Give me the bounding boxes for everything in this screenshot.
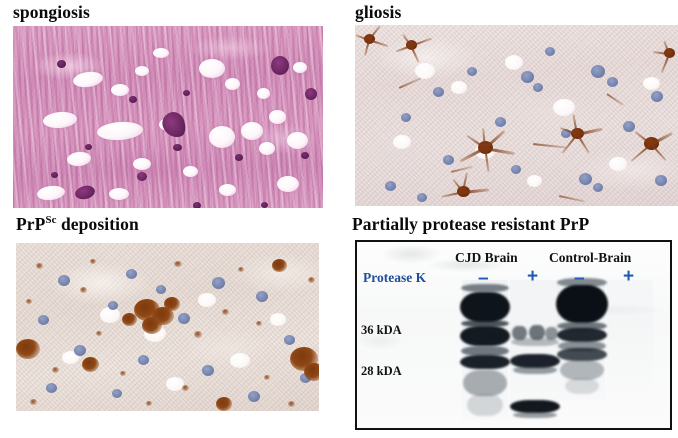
blot-band — [460, 292, 510, 322]
vacuole — [257, 88, 270, 99]
tissue-hole — [643, 77, 660, 90]
prp-plaque — [164, 297, 180, 311]
vacuole — [287, 132, 308, 149]
nucleus — [51, 172, 58, 178]
prpsc-title-main: PrP — [16, 214, 45, 234]
blot-band — [463, 370, 507, 396]
vacuole — [269, 110, 286, 124]
nucleus — [108, 301, 118, 310]
nucleus — [193, 202, 201, 208]
blot-band — [557, 328, 607, 342]
neuron — [271, 56, 289, 75]
vacuole — [199, 59, 225, 78]
vacuole — [153, 48, 169, 58]
prp-granule — [256, 321, 262, 326]
nucleus — [533, 83, 543, 92]
neuron — [137, 172, 147, 181]
nucleus — [126, 269, 137, 279]
lane-group-label-cjd: CJD Brain — [455, 250, 518, 266]
panel-title-blot: Partially protease resistant PrP — [352, 214, 589, 235]
prpsc-title-superscript: Sc — [45, 214, 56, 226]
lane-sign-cjd-plus: + — [527, 266, 538, 288]
lane-sign-cjd-minus: – — [478, 268, 489, 290]
vacuole — [135, 66, 149, 76]
vacuole — [109, 188, 129, 200]
nucleus — [138, 355, 149, 365]
prp-plaque — [16, 339, 40, 359]
nucleus — [38, 315, 49, 325]
vacuole — [277, 176, 299, 192]
prp-plaque — [82, 357, 99, 372]
nucleus — [284, 335, 295, 345]
prp-granule — [264, 375, 270, 380]
nucleus — [623, 121, 635, 132]
blot-band — [513, 366, 557, 374]
lane-group-label-control: Control-Brain — [549, 250, 631, 266]
prp-granule — [222, 309, 229, 315]
mw-marker-28kda: 28 kDA — [361, 364, 402, 379]
vacuole — [259, 142, 275, 155]
tissue-hole — [505, 55, 523, 70]
lane-background-cjd-plus — [510, 280, 558, 420]
nucleus — [301, 152, 309, 159]
nucleus — [433, 87, 444, 97]
prp-granule — [36, 263, 43, 269]
blot-band — [560, 360, 604, 380]
nucleus — [173, 144, 182, 151]
nucleus — [212, 277, 225, 289]
micrograph-spongiosis — [13, 26, 323, 208]
vacuole — [241, 122, 263, 140]
lane-sign-control-plus: + — [623, 266, 634, 288]
nucleus — [202, 365, 214, 376]
vacuole — [133, 158, 151, 170]
prp-plaque — [142, 317, 162, 334]
mw-marker-36kda: 36 kDA — [361, 323, 402, 338]
nucleus — [593, 183, 603, 192]
panel-title-prpsc: PrPSc deposition — [16, 214, 139, 235]
nucleus — [545, 47, 555, 56]
blot-band — [511, 338, 559, 346]
nucleus — [401, 113, 411, 122]
vacuole — [209, 126, 235, 148]
blot-band — [565, 378, 599, 394]
prp-granule — [96, 331, 102, 336]
vacuole — [183, 166, 198, 177]
prp-plaque — [272, 259, 287, 272]
prp-granule — [52, 367, 59, 373]
nucleus — [495, 117, 506, 127]
lane-background-control-plus — [607, 280, 653, 390]
nucleus — [178, 313, 190, 324]
nucleus — [579, 173, 592, 185]
blot-band — [556, 285, 608, 323]
nucleus — [74, 345, 86, 356]
prp-granule — [288, 401, 295, 407]
tissue-hole — [270, 313, 286, 326]
prp-plaque — [122, 313, 137, 326]
lane-sign-control-minus: – — [574, 268, 585, 290]
nucleus — [655, 175, 667, 186]
prp-granule — [90, 259, 96, 264]
blot-band — [460, 355, 510, 369]
prpsc-title-rest: deposition — [57, 214, 139, 234]
nucleus — [235, 154, 243, 161]
prp-granule — [308, 277, 315, 283]
prp-granule — [238, 267, 244, 272]
nucleus — [261, 202, 268, 208]
nucleus — [85, 144, 92, 150]
prp-granule — [30, 399, 37, 405]
tissue-hole — [451, 81, 467, 94]
nucleus — [607, 77, 618, 87]
blot-band — [467, 394, 503, 416]
tissue-hole — [393, 135, 411, 149]
prp-granule — [120, 371, 126, 376]
tissue-hole — [198, 293, 216, 307]
protease-k-label: Protease K — [363, 270, 426, 286]
vacuole — [293, 62, 307, 73]
nucleus — [57, 60, 66, 68]
panel-title-spongiosis: spongiosis — [13, 2, 90, 23]
figure-root: spongiosis gliosis PrPSc deposition Part… — [0, 0, 678, 438]
nucleus — [248, 391, 260, 402]
vacuole — [219, 184, 236, 196]
prp-granule — [194, 331, 202, 338]
nucleus — [511, 165, 521, 174]
micrograph-gliosis — [355, 25, 678, 206]
tissue-hole — [230, 353, 250, 368]
nucleus — [651, 91, 663, 102]
tissue-hole — [415, 63, 435, 79]
nucleus — [256, 291, 268, 302]
prp-granule — [174, 261, 182, 267]
micrograph-prpsc — [16, 243, 319, 411]
nucleus — [443, 155, 454, 165]
blot-band — [460, 326, 510, 346]
nucleus — [521, 71, 534, 83]
prp-granule — [146, 401, 152, 406]
nucleus — [183, 90, 190, 96]
nucleus — [385, 181, 396, 191]
prp-plaque — [216, 397, 232, 411]
nucleus — [129, 96, 137, 103]
nucleus — [156, 285, 166, 294]
vacuole — [225, 78, 240, 90]
prp-plaque — [304, 363, 319, 381]
nucleus — [46, 383, 57, 393]
nucleus — [58, 275, 70, 286]
nucleus — [467, 67, 477, 76]
western-blot-panel: Protease K CJD Brain Control-Brain – + –… — [355, 240, 672, 430]
panel-title-gliosis: gliosis — [355, 2, 401, 23]
tissue-hole — [553, 99, 575, 116]
vacuole — [111, 84, 129, 96]
prp-granule — [182, 385, 189, 391]
prp-granule — [80, 287, 87, 293]
blot-band — [513, 412, 557, 418]
neuron — [305, 88, 317, 100]
nucleus — [112, 389, 122, 398]
nucleus — [591, 65, 605, 78]
prp-granule — [26, 299, 32, 304]
tissue-hole — [609, 157, 627, 171]
nucleus — [417, 193, 427, 202]
tissue-hole — [527, 175, 542, 187]
